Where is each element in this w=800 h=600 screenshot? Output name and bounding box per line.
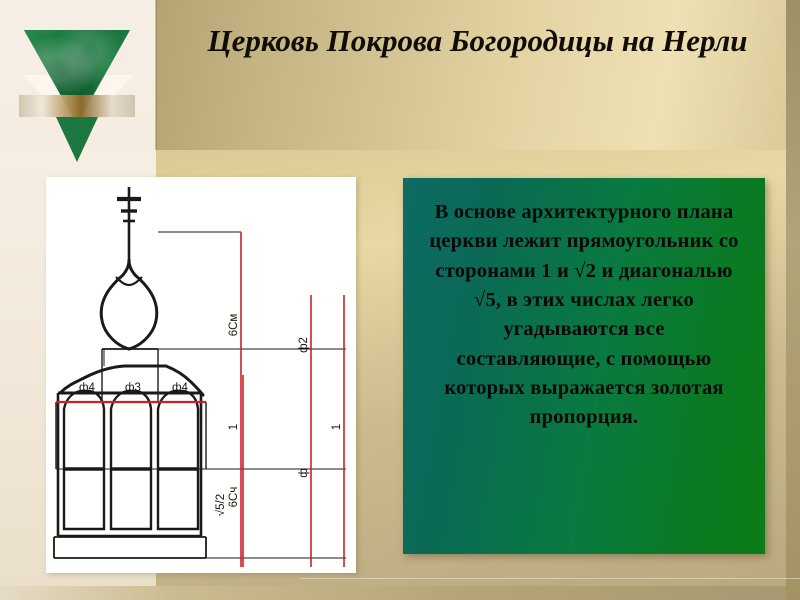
- triangle-tip-icon: [56, 117, 98, 162]
- slide-background-horizontal-rule: [300, 578, 800, 579]
- label-phi2: ф2: [298, 337, 310, 353]
- church-proportion-diagram: ф4 ф3 ф4 6См ф2 1 6Cч ф 1 √5/2: [46, 177, 356, 573]
- triangle-emblem-logo: [16, 20, 138, 140]
- label-phi4-right: ф4: [172, 382, 188, 394]
- slide-background-divider-line: [155, 0, 157, 150]
- label-phi: ф: [298, 468, 310, 477]
- slide-background-right-edge: [786, 0, 800, 600]
- label-phi3: ф3: [125, 382, 141, 394]
- label-one-b: 1: [331, 424, 343, 430]
- diagram-panel: ф4 ф3 ф4 6См ф2 1 6Cч ф 1 √5/2: [46, 177, 356, 573]
- label-6sm: 6См: [228, 314, 240, 337]
- label-phi4-left: ф4: [79, 382, 95, 394]
- diagram-black-lines: [54, 187, 346, 558]
- slide-background-bottom-strip: [0, 586, 800, 600]
- label-6ch: 6Cч: [228, 487, 240, 508]
- description-text: В основе архитектурного плана церкви леж…: [403, 178, 765, 433]
- description-textbox: В основе архитектурного плана церкви леж…: [403, 178, 765, 554]
- label-one-a: 1: [228, 424, 240, 430]
- horizontal-gold-band-icon: [19, 95, 135, 117]
- label-sqrt5-over-2: √5/2: [214, 494, 227, 516]
- page-title: Церковь Покрова Богородицы на Нерли: [160, 20, 795, 63]
